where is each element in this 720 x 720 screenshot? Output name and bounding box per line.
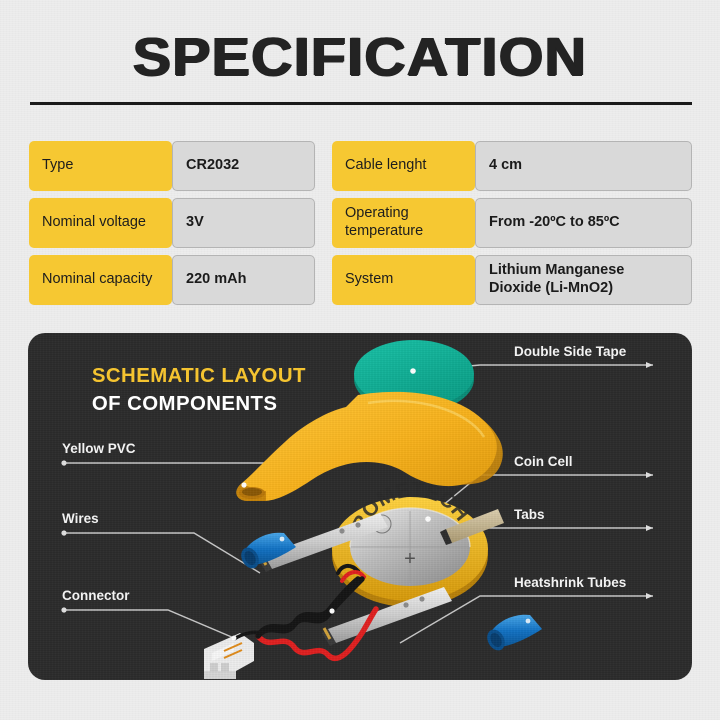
- spec-value-type: CR2032: [172, 141, 315, 191]
- wires-part: [258, 566, 376, 667]
- spec-label-system: System: [332, 255, 475, 305]
- specification-table: Type CR2032 Cable lenght 4 cm Nominal vo…: [29, 141, 692, 305]
- schematic-layout-panel: ROMETECH + Li: [28, 333, 692, 680]
- callout-label-coin-cell: Coin Cell: [514, 454, 573, 469]
- column-gap: [315, 255, 332, 305]
- spec-label-nominal-voltage: Nominal voltage: [29, 198, 172, 248]
- leader-arrows-right: [646, 362, 653, 599]
- heatshrink-tube-blue-lower: [484, 615, 542, 654]
- schematic-heading: SCHEMATIC LAYOUT OF COMPONENTS: [92, 362, 306, 419]
- schematic-heading-line-1: SCHEMATIC LAYOUT: [92, 362, 306, 390]
- spec-value-cable-length: 4 cm: [475, 141, 692, 191]
- spec-label-cable-length: Cable lenght: [332, 141, 475, 191]
- callout-label-tabs: Tabs: [514, 507, 545, 522]
- column-gap: [315, 198, 332, 248]
- callout-label-heatshrink-tubes: Heatshrink Tubes: [514, 575, 626, 590]
- callout-label-double-side-tape: Double Side Tape: [514, 344, 626, 359]
- page-title: SPECIFICATION: [0, 26, 720, 88]
- spec-value-system: Lithium Manganese Dioxide (Li-MnO2): [475, 255, 692, 305]
- callout-label-connector: Connector: [62, 588, 130, 603]
- connector-part: [204, 632, 260, 679]
- callout-label-yellow-pvc: Yellow PVC: [62, 441, 136, 456]
- spec-value-nominal-voltage: 3V: [172, 198, 315, 248]
- column-gap: [315, 141, 332, 191]
- spec-label-nominal-capacity: Nominal capacity: [29, 255, 172, 305]
- battery-polarity-text: +: [404, 548, 416, 570]
- spec-label-operating-temp: Operating temperature: [332, 198, 475, 248]
- spec-label-type: Type: [29, 141, 172, 191]
- spec-value-nominal-capacity: 220 mAh: [172, 255, 315, 305]
- spec-value-operating-temp: From -20ºC to 85ºC: [475, 198, 692, 248]
- title-divider: [30, 102, 692, 105]
- callout-label-wires: Wires: [62, 511, 99, 526]
- schematic-heading-line-2: OF COMPONENTS: [92, 390, 306, 418]
